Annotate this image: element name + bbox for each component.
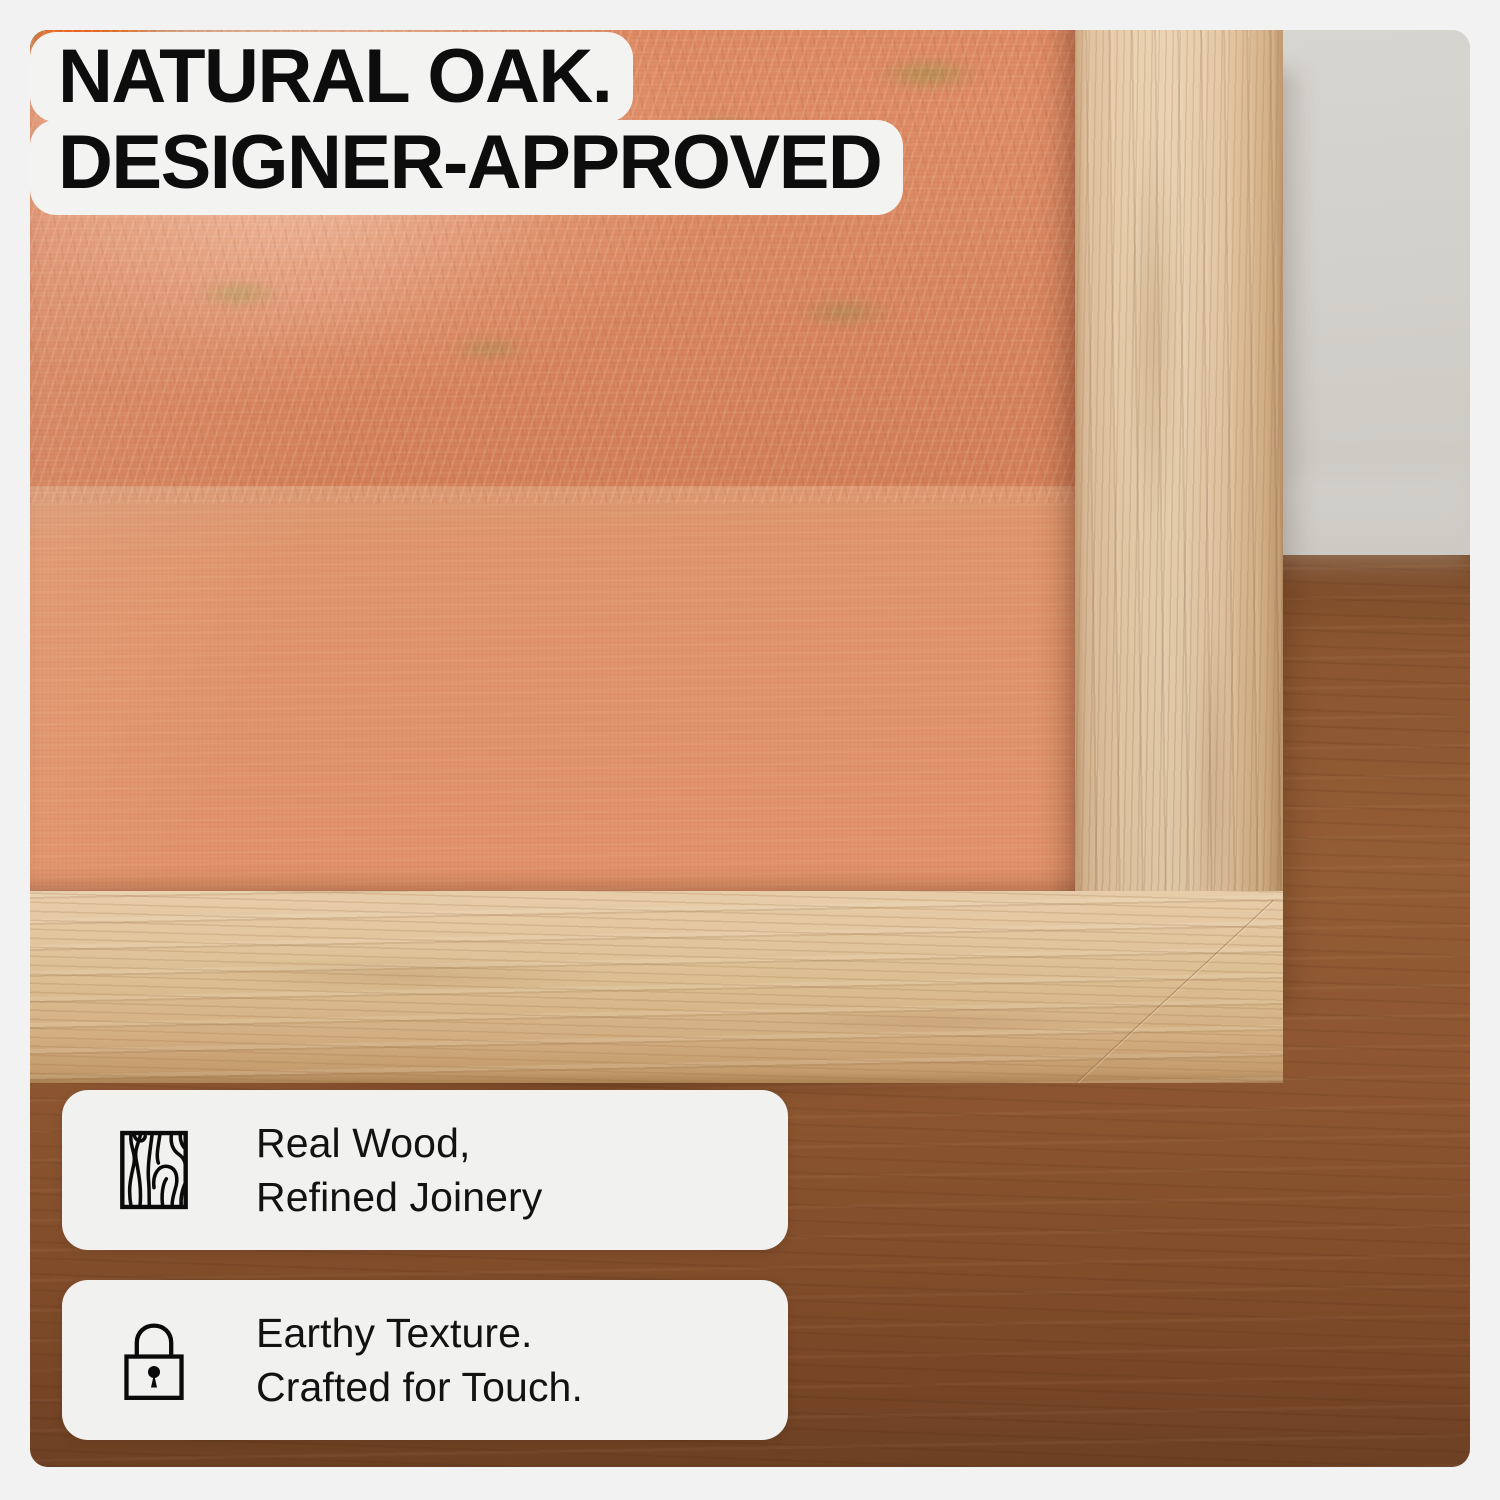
- page-margin-bottom: [0, 1467, 1500, 1500]
- wood-grain-icon: [108, 1124, 200, 1216]
- feature-line-1: Earthy Texture.: [256, 1306, 583, 1360]
- feature-line-1: Real Wood,: [256, 1116, 542, 1170]
- page-margin-right: [1470, 0, 1500, 1500]
- lock-icon: [108, 1314, 200, 1406]
- frame-bottom-rail: [30, 891, 1283, 1083]
- feature-line-2: Crafted for Touch.: [256, 1360, 583, 1414]
- feature-badge-real-wood: Real Wood, Refined Joinery: [62, 1090, 788, 1250]
- feature-badge-text: Earthy Texture. Crafted for Touch.: [256, 1306, 583, 1414]
- page-margin-left: [0, 0, 30, 1500]
- headline-line-2: DESIGNER-APPROVED: [30, 120, 903, 216]
- feature-badge-earthy-texture: Earthy Texture. Crafted for Touch.: [62, 1280, 788, 1440]
- page-margin-top: [0, 0, 1500, 30]
- headline-line-1: NATURAL OAK.: [30, 32, 633, 122]
- feature-badge-text: Real Wood, Refined Joinery: [256, 1116, 542, 1224]
- headline-block: NATURAL OAK. DESIGNER-APPROVED: [30, 32, 903, 215]
- feature-badge-list: Real Wood, Refined Joinery Earthy Textur…: [62, 1090, 788, 1440]
- feature-line-2: Refined Joinery: [256, 1170, 542, 1224]
